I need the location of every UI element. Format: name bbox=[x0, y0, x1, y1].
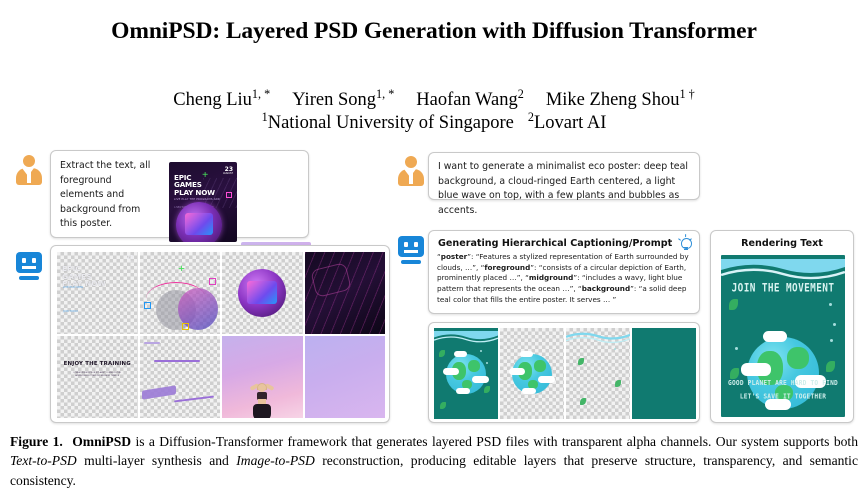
final-rendered-poster[interactable]: JOIN THE MOVEMENT bbox=[721, 255, 845, 417]
avatar-tie bbox=[409, 170, 413, 184]
bot-base bbox=[401, 260, 421, 264]
poster-footer-text: GOOD PLANET ARE HARD TO FIND LET'S SAVE … bbox=[725, 378, 841, 403]
image-to-psd-prompt-card: Extract the text, all foreground element… bbox=[50, 150, 309, 238]
caption-italic-2: Image-to-PSD bbox=[236, 453, 315, 468]
foreground-orb-graphic bbox=[238, 269, 286, 317]
bot-face bbox=[398, 236, 424, 257]
poster-subtext: LIVE PLAY THE PROGRAMS AND bbox=[174, 198, 220, 201]
layer-text-subcontent: LOREM IPSUM DOLOR SIT AMET CONSECTETUR A… bbox=[69, 372, 126, 378]
decomposed-layers-grid: EPIC GAMES PLAY NOW LIVE PLAY NOW JOIN T… bbox=[50, 245, 390, 423]
leaf-accent bbox=[729, 299, 738, 310]
band-shape bbox=[142, 385, 176, 399]
hierarchical-captioning-panel: Generating Hierarchical Captioning/Promp… bbox=[428, 230, 700, 314]
avatar-head bbox=[405, 156, 417, 168]
square-accent-magenta bbox=[209, 278, 216, 285]
caption-part-1: is a Diffusion-Transformer framework tha… bbox=[131, 434, 858, 449]
bar-shape-3 bbox=[144, 342, 160, 344]
author-2: Haofan Wang2 bbox=[416, 90, 524, 110]
author-0: Cheng Liu1, * bbox=[173, 90, 270, 110]
bot-avatar-icon-left bbox=[16, 252, 42, 282]
affiliation-1: 2Lovart AI bbox=[528, 113, 607, 133]
foreground-earth-layer[interactable] bbox=[500, 328, 564, 419]
leaf-accent bbox=[578, 358, 584, 365]
foreground-person-figure bbox=[249, 384, 275, 418]
bubble-accent bbox=[614, 348, 616, 350]
layer-shapes-games[interactable]: + bbox=[140, 252, 221, 334]
affiliation-list: 1National University of Singapore2Lovart… bbox=[0, 110, 868, 134]
layer-date-badge: 23AUG bbox=[127, 256, 134, 263]
leaf-accent bbox=[440, 402, 446, 409]
poster-headline: JOIN THE MOVEMENT bbox=[721, 282, 845, 296]
layer-text-content: EPIC GAMES PLAY NOW bbox=[62, 265, 106, 288]
bot-avatar-icon-right bbox=[398, 236, 424, 266]
poster-orb-graphic bbox=[176, 202, 222, 242]
layer-text-small-1: LIVE PLAY NOW bbox=[63, 286, 83, 289]
bar-shape-2 bbox=[174, 396, 214, 403]
caption-key: foreground bbox=[484, 263, 530, 272]
caption-panel-body: “poster”: “Features a stylized represent… bbox=[437, 252, 691, 305]
text-to-psd-prompt-card: I want to generate a minimalist eco post… bbox=[428, 152, 700, 200]
bot-mouth bbox=[22, 266, 36, 269]
midground-wave-layer[interactable] bbox=[566, 328, 630, 419]
layer-shapes-training[interactable] bbox=[140, 336, 221, 418]
input-poster-epic-games: EPIC GAMES PLAY NOW LIVE PLAY THE PROGRA… bbox=[169, 162, 237, 242]
bot-eye-left bbox=[22, 258, 26, 263]
page-title: OmniPSD: Layered PSD Generation with Dif… bbox=[0, 18, 868, 45]
caption-key: background bbox=[582, 284, 630, 293]
text-to-psd-prompt-text: I want to generate a minimalist eco post… bbox=[438, 160, 693, 218]
bot-eye-right bbox=[414, 242, 418, 247]
image-to-psd-prompt-text: Extract the text, all foreground element… bbox=[60, 159, 152, 232]
author-1: Yiren Song1, * bbox=[292, 90, 394, 110]
layer-foreground-games[interactable] bbox=[222, 252, 303, 334]
poster-headline: EPIC GAMES PLAY NOW bbox=[174, 174, 215, 196]
author-list: Cheng Liu1, *Yiren Song1, *Haofan Wang2M… bbox=[0, 86, 868, 113]
layer-background-games[interactable] bbox=[305, 252, 386, 334]
bot-mouth bbox=[404, 250, 418, 253]
earth-graphic bbox=[446, 354, 486, 394]
layer-text-content: ENJOY THE TRAINING bbox=[57, 361, 138, 367]
generated-layers-strip bbox=[428, 322, 700, 423]
plus-accent-icon: + bbox=[202, 170, 208, 181]
bubble-accent bbox=[735, 347, 738, 350]
rendering-text-panel: Rendering Text JOIN THE MOVEMENT bbox=[710, 230, 854, 423]
poster-date-badge: 23AUGUST bbox=[223, 167, 233, 175]
poster-footer-line-1: GOOD PLANET ARE HARD TO FIND bbox=[725, 378, 841, 391]
caption-panel-title: Generating Hierarchical Captioning/Promp… bbox=[438, 238, 691, 249]
bubble-accent bbox=[833, 323, 836, 326]
bot-base bbox=[19, 276, 39, 280]
caption-key: midground bbox=[529, 273, 574, 282]
wave-graphic bbox=[721, 259, 845, 281]
leaf-accent bbox=[484, 386, 490, 393]
bubble-accent bbox=[829, 303, 832, 306]
figure-caption: Figure 1. OmniPSD is a Diffusion-Transfo… bbox=[10, 432, 858, 490]
bot-face bbox=[16, 252, 42, 273]
square-accent-icon bbox=[226, 192, 232, 198]
figure-bold-name: OmniPSD bbox=[72, 434, 131, 449]
wave-graphic bbox=[434, 331, 498, 344]
layer-background-training[interactable] bbox=[305, 336, 386, 418]
composite-layer[interactable] bbox=[434, 328, 498, 419]
poster-footer-line-2: LET'S SAVE IT TOGETHER bbox=[725, 390, 841, 403]
square-accent-blue bbox=[144, 302, 151, 309]
earth-graphic bbox=[512, 354, 552, 394]
figure-page: OmniPSD: Layered PSD Generation with Dif… bbox=[0, 0, 868, 494]
bubble-accent bbox=[480, 350, 482, 352]
bot-eye-left bbox=[404, 242, 408, 247]
author-3: Mike Zheng Shou1 † bbox=[546, 90, 695, 110]
leaf-accent bbox=[826, 361, 835, 372]
wave-graphic bbox=[566, 331, 630, 344]
layer-text-small-2: JOIN TODAY bbox=[63, 310, 78, 313]
caption-part-2: multi-layer synthesis and bbox=[77, 453, 237, 468]
leaf-accent bbox=[580, 398, 586, 405]
avatar-tie bbox=[27, 169, 31, 183]
square-accent-yellow bbox=[182, 323, 189, 330]
leaf-accent bbox=[439, 350, 445, 357]
figure-label: Figure 1. bbox=[10, 434, 63, 449]
affiliation-0: 1National University of Singapore bbox=[262, 113, 514, 133]
avatar-head bbox=[23, 155, 35, 167]
user-avatar-icon-right bbox=[398, 156, 424, 186]
bubble-accent bbox=[830, 339, 833, 342]
layer-text-games[interactable]: EPIC GAMES PLAY NOW LIVE PLAY NOW JOIN T… bbox=[57, 252, 138, 334]
bar-shape-1 bbox=[154, 360, 200, 362]
user-avatar-icon bbox=[16, 155, 42, 185]
bot-eye-right bbox=[32, 258, 36, 263]
leaf-accent bbox=[615, 380, 621, 387]
caption-italic-1: Text-to-PSD bbox=[10, 453, 77, 468]
caption-key: poster bbox=[441, 252, 467, 261]
lightbulb-icon bbox=[678, 236, 692, 252]
layer-foreground-training[interactable] bbox=[222, 336, 303, 418]
layer-text-training[interactable]: ENJOY THE TRAINING LOREM IPSUM DOLOR SIT… bbox=[57, 336, 138, 418]
plus-accent-icon: + bbox=[178, 262, 185, 274]
background-teal-layer[interactable] bbox=[632, 328, 696, 419]
render-panel-title: Rendering Text bbox=[716, 238, 848, 249]
bubble-accent bbox=[486, 362, 488, 364]
